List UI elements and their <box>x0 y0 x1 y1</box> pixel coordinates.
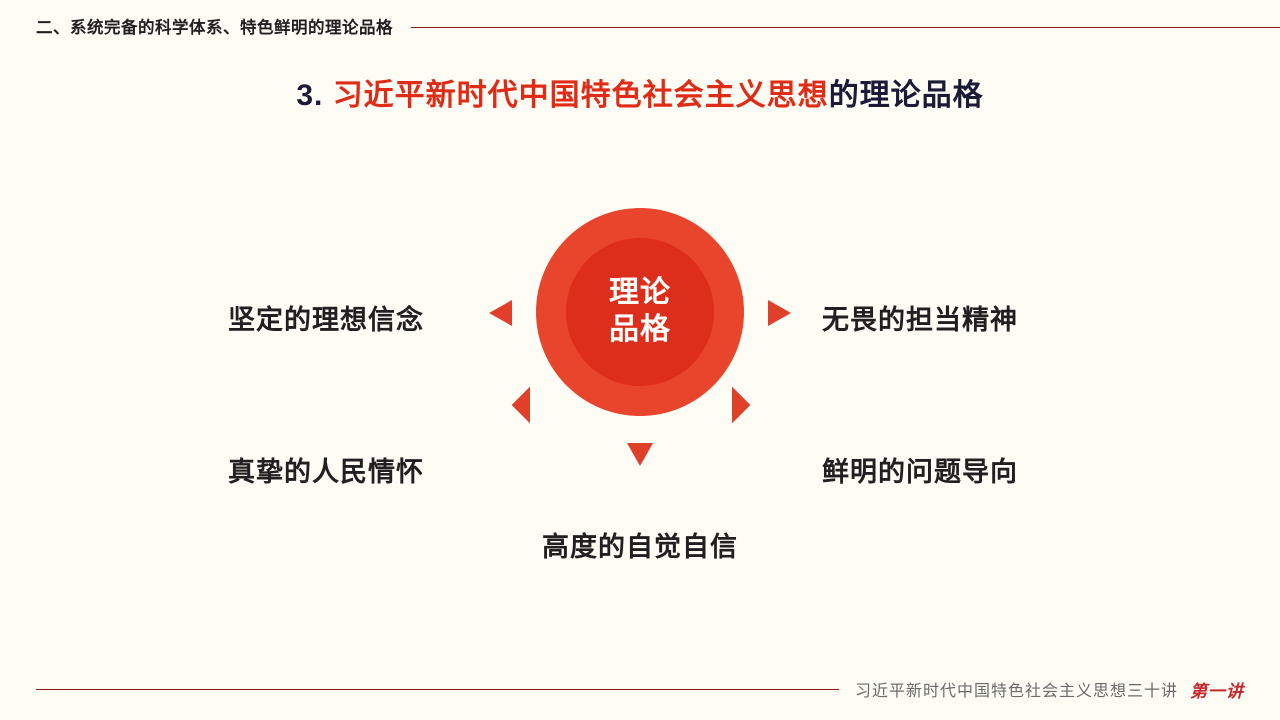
page-title-highlight: 习近平新时代中国特色社会主义思想 <box>333 79 829 112</box>
arrow-left-icon <box>489 300 512 326</box>
page-title-suffix: 的理论品格 <box>829 79 984 112</box>
slide-header: 二、系统完备的科学体系、特色鲜明的理论品格 <box>36 13 1280 39</box>
node-label-bottom: 高度的自觉自信 <box>0 525 1280 564</box>
page-title: 3. 习近平新时代中国特色社会主义思想的理论品格 <box>0 70 1280 114</box>
node-label-bottom-right: 鲜明的问题导向 <box>822 450 1018 489</box>
center-label-line1: 理论 <box>609 275 671 312</box>
diagram-center-inner: 理论 品格 <box>566 238 714 386</box>
slide-root: 二、系统完备的科学体系、特色鲜明的理论品格 3. 习近平新时代中国特色社会主义思… <box>0 0 1280 720</box>
page-title-number: 3. <box>296 79 323 112</box>
slide-footer: 习近平新时代中国特色社会主义思想三十讲 第一讲 <box>0 676 1280 702</box>
arrow-down-icon <box>627 443 653 466</box>
diagram-center-hub[interactable]: 理论 品格 <box>536 208 744 416</box>
header-divider <box>411 27 1280 28</box>
footer-lecture-badge: 第一讲 <box>1190 677 1244 702</box>
arrow-down-left-icon <box>512 387 549 424</box>
node-label-left: 坚定的理想信念 <box>228 298 424 337</box>
section-title: 二、系统完备的科学体系、特色鲜明的理论品格 <box>36 14 393 38</box>
node-label-right: 无畏的担当精神 <box>822 298 1018 337</box>
arrow-down-right-icon <box>714 387 751 424</box>
arrow-right-icon <box>768 300 791 326</box>
node-label-bottom-left: 真挚的人民情怀 <box>228 450 424 489</box>
footer-divider <box>36 689 839 690</box>
footer-series-title: 习近平新时代中国特色社会主义思想三十讲 <box>855 677 1178 701</box>
center-label-line2: 品格 <box>609 312 671 349</box>
